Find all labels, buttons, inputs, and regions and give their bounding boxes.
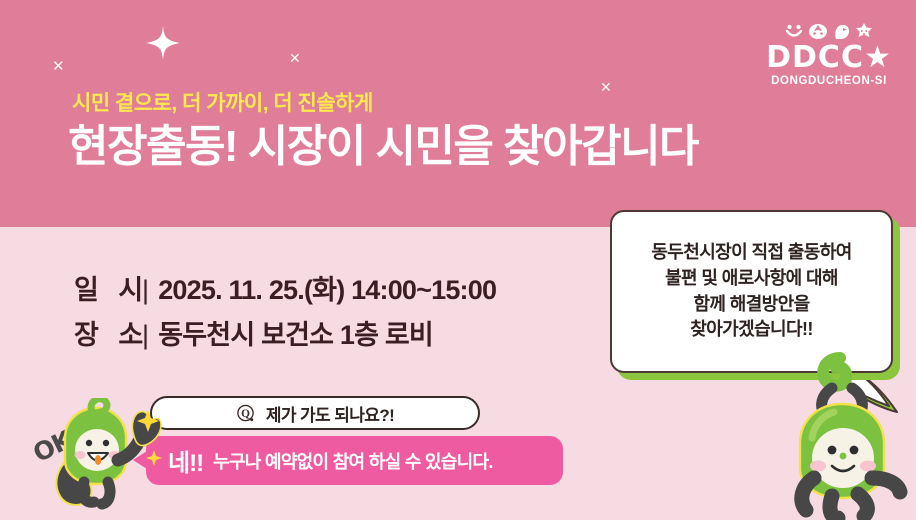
logo-letters: DDCC — [766, 40, 864, 75]
question-bubble: Q 제가 가도 되나요?! — [150, 396, 480, 430]
header-subtitle: 시민 곁으로, 더 가까이, 더 진솔하게 — [72, 87, 373, 117]
logo-city-name: DONGDUCHEON-SI — [764, 75, 894, 87]
sparkle-x-icon: ✕ — [600, 80, 612, 94]
bubble-line: 함께 해결방안을 — [693, 292, 809, 318]
question-q-icon: Q — [236, 404, 255, 423]
logo-glyph-row — [764, 20, 894, 40]
sparkle-x-icon: ✕ — [289, 51, 301, 65]
answer-emphasis: 네!! — [168, 443, 203, 478]
bubble-line: 찾아가겠습니다!! — [690, 317, 813, 343]
svg-text:Q: Q — [241, 407, 250, 419]
detail-row-location: 장 소 | 동두천시 보건소 1층 로비 — [74, 313, 496, 352]
flower-glyph-icon — [855, 23, 873, 40]
question-text: 제가 가도 되나요?! — [266, 401, 394, 426]
poster-canvas: ✕ ✕ ✕ DDCC★ — [0, 0, 916, 520]
logo-star-icon: ★ — [864, 40, 892, 75]
bubble-body: 동두천시장이 직접 출동하여 불편 및 애로사항에 대해 함께 해결방안을 찾아… — [610, 210, 893, 373]
detail-separator: | — [142, 275, 148, 306]
bird-glyph-icon — [833, 23, 850, 40]
creature-glyph-icon — [808, 23, 828, 40]
detail-value-datetime: 2025. 11. 25.(화) 14:00~15:00 — [158, 268, 496, 307]
sparkle-star-icon — [146, 26, 180, 60]
page-title: 현장출동! 시장이 시민을 찾아갑니다 — [68, 122, 698, 173]
dongducheon-logo: DDCC★ DONGDUCHEON-SI — [764, 20, 894, 87]
answer-bubble: 네!! 누구나 예약없이 참여 하실 수 있습니다. — [146, 436, 563, 485]
event-details: 일 시 | 2025. 11. 25.(화) 14:00~15:00 장 소 |… — [74, 268, 496, 358]
detail-separator: | — [142, 320, 148, 351]
detail-row-datetime: 일 시 | 2025. 11. 25.(화) 14:00~15:00 — [74, 268, 496, 307]
bubble-line: 불편 및 애로사항에 대해 — [665, 266, 838, 292]
sparkle-x-icon: ✕ — [52, 59, 65, 74]
smiley-glyph-icon — [785, 23, 803, 40]
logo-wordmark: DDCC★ — [764, 43, 894, 73]
detail-value-location: 동두천시 보건소 1층 로비 — [158, 313, 433, 352]
detail-label-location: 장 소 — [74, 313, 140, 352]
green-mascot-hanging — [772, 352, 916, 520]
answer-text: 누구나 예약없이 참여 하실 수 있습니다. — [213, 448, 493, 474]
green-mascot-ok-gesture — [30, 398, 170, 513]
detail-label-datetime: 일 시 — [74, 268, 140, 307]
bubble-line: 동두천시장이 직접 출동하여 — [651, 240, 851, 266]
